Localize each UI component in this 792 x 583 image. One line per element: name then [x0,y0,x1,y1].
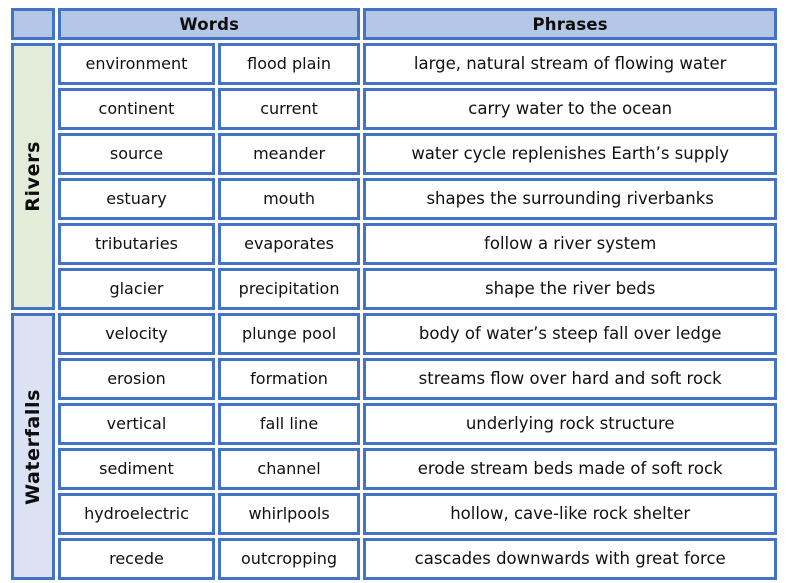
word-cell-primary: glacier [58,268,215,310]
section-label-text: Rivers [24,141,43,212]
word-cell-secondary: outcropping [218,538,361,580]
word-cell-primary: tributaries [58,223,215,265]
word-cell-secondary: flood plain [218,43,361,85]
word-cell-secondary: plunge pool [218,313,361,355]
table-body: Riversenvironmentflood plainlarge, natur… [11,43,777,580]
table-row: Waterfallsvelocityplunge poolbody of wat… [11,313,777,355]
word-cell-primary: estuary [58,178,215,220]
word-cell-secondary: mouth [218,178,361,220]
phrase-cell: follow a river system [363,223,777,265]
column-header-words: Words [58,8,360,40]
word-cell-primary: recede [58,538,215,580]
word-cell-primary: environment [58,43,215,85]
word-cell-primary: source [58,133,215,175]
word-cell-primary: velocity [58,313,215,355]
phrase-cell: cascades downwards with great force [363,538,777,580]
word-cell-primary: erosion [58,358,215,400]
section-label-waterfalls: Waterfalls [11,313,55,580]
phrase-cell: shapes the surrounding riverbanks [363,178,777,220]
table-row: hydroelectricwhirlpoolshollow, cave-like… [11,493,777,535]
word-cell-secondary: current [218,88,361,130]
section-label-rivers: Rivers [11,43,55,310]
word-cell-primary: hydroelectric [58,493,215,535]
header-corner-spacer [11,8,55,40]
word-cell-secondary: formation [218,358,361,400]
table-row: sourcemeanderwater cycle replenishes Ear… [11,133,777,175]
header-row: Words Phrases [11,8,777,40]
table-row: erosionformationstreams flow over hard a… [11,358,777,400]
table-row: sedimentchannelerode stream beds made of… [11,448,777,490]
phrase-cell: underlying rock structure [363,403,777,445]
phrase-cell: erode stream beds made of soft rock [363,448,777,490]
word-cell-secondary: meander [218,133,361,175]
vocabulary-sheet: Words Phrases Riversenvironmentflood pla… [0,0,792,576]
word-cell-primary: continent [58,88,215,130]
phrase-cell: water cycle replenishes Earth’s supply [363,133,777,175]
table-row: Riversenvironmentflood plainlarge, natur… [11,43,777,85]
word-cell-primary: vertical [58,403,215,445]
phrase-cell: body of water’s steep fall over ledge [363,313,777,355]
word-cell-secondary: fall line [218,403,361,445]
phrase-cell: carry water to the ocean [363,88,777,130]
word-cell-primary: sediment [58,448,215,490]
table-row: estuarymouthshapes the surrounding river… [11,178,777,220]
word-cell-secondary: evaporates [218,223,361,265]
table-row: tributariesevaporatesfollow a river syst… [11,223,777,265]
vocabulary-table: Words Phrases Riversenvironmentflood pla… [8,5,780,583]
table-row: verticalfall lineunderlying rock structu… [11,403,777,445]
column-header-phrases: Phrases [363,8,777,40]
table-row: glacierprecipitationshape the river beds [11,268,777,310]
section-label-text: Waterfalls [24,389,43,505]
word-cell-secondary: precipitation [218,268,361,310]
table-row: continentcurrentcarry water to the ocean [11,88,777,130]
table-header: Words Phrases [11,8,777,40]
table-row: recedeoutcroppingcascades downwards with… [11,538,777,580]
word-cell-secondary: whirlpools [218,493,361,535]
word-cell-secondary: channel [218,448,361,490]
phrase-cell: large, natural stream of flowing water [363,43,777,85]
phrase-cell: shape the river beds [363,268,777,310]
phrase-cell: streams flow over hard and soft rock [363,358,777,400]
phrase-cell: hollow, cave-like rock shelter [363,493,777,535]
